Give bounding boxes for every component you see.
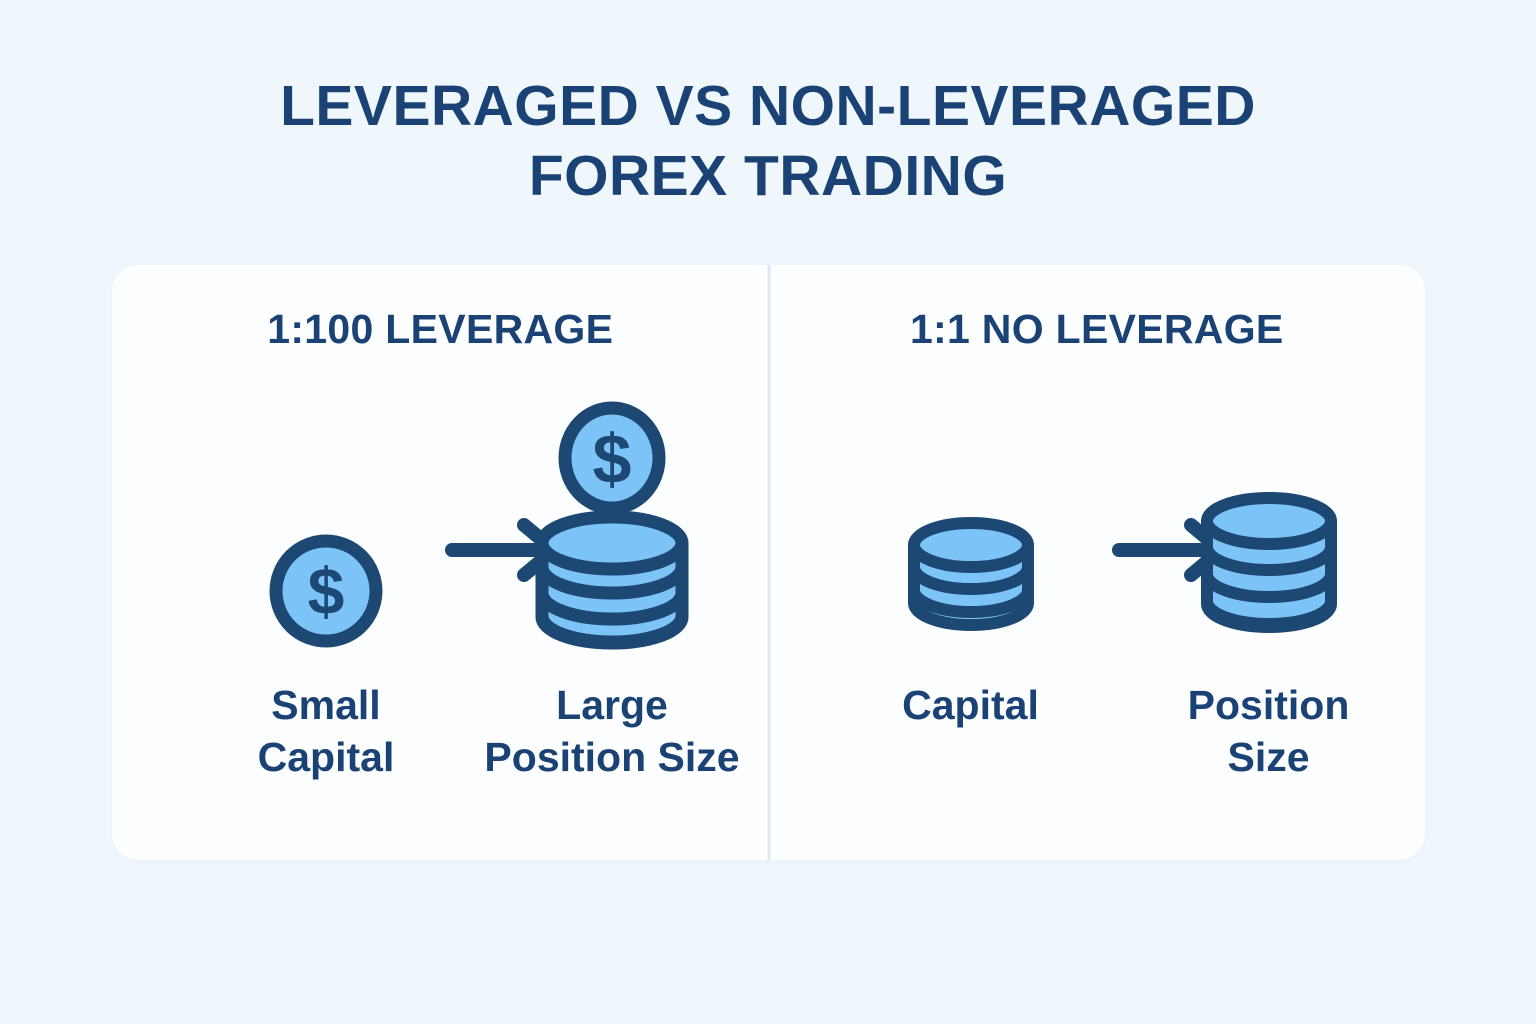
- infographic-page: LEVERAGED VS NON-LEVERAGED FOREX TRADING…: [0, 0, 1536, 1024]
- panel-heading-leveraged: 1:100 LEVERAGE: [267, 306, 613, 353]
- flow-item-small-capital: $ Small Capital: [196, 401, 456, 784]
- svg-text:$: $: [308, 554, 345, 628]
- flow-row-non-leveraged: Capital: [769, 401, 1426, 821]
- comparison-card: 1:100 LEVERAGE $ Small Capital: [112, 265, 1425, 860]
- flow-label-position-size: Position Size: [1188, 679, 1350, 784]
- page-title-line-2: FOREX TRADING: [0, 142, 1536, 212]
- panel-leveraged: 1:100 LEVERAGE $ Small Capital: [112, 265, 769, 860]
- page-title: LEVERAGED VS NON-LEVERAGED FOREX TRADING: [0, 72, 1536, 211]
- flow-label-capital: Capital: [902, 679, 1039, 731]
- svg-text:$: $: [593, 420, 632, 498]
- small-coin-stack-icon: [896, 401, 1046, 651]
- page-title-line-1: LEVERAGED VS NON-LEVERAGED: [0, 72, 1536, 142]
- flow-item-large-position-size: $ Large Position Size: [462, 401, 762, 784]
- panel-non-leveraged: 1:1 NO LEVERAGE Capital: [769, 265, 1426, 860]
- coin-stack-with-standing-coin-icon: $: [517, 401, 707, 651]
- flow-item-position-size: Position Size: [1129, 401, 1409, 784]
- coin-stack-icon: [1189, 401, 1349, 651]
- flow-label-small-capital: Small Capital: [258, 679, 395, 784]
- flow-item-capital: Capital: [831, 401, 1111, 731]
- single-coin-icon: $: [266, 401, 386, 651]
- panel-heading-non-leveraged: 1:1 NO LEVERAGE: [910, 306, 1284, 353]
- flow-label-large-position-size: Large Position Size: [484, 679, 739, 784]
- flow-row-leveraged: $ Small Capital: [112, 401, 769, 821]
